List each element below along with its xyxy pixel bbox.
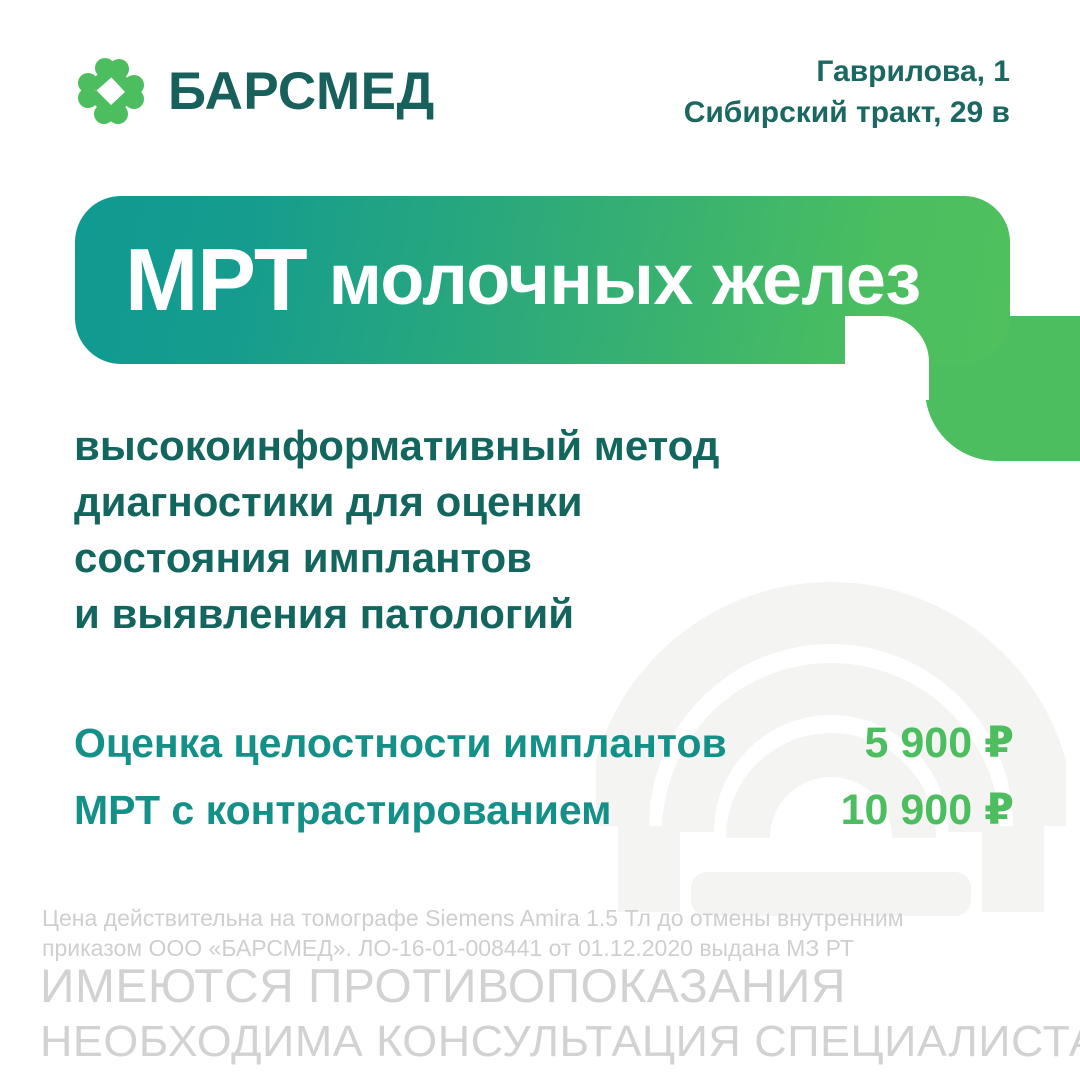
address-line-2: Сибирский тракт, 29 в (684, 93, 1010, 134)
description-line-4: и выявления патологий (74, 586, 894, 642)
fineprint-line-1: Цена действительна на томографе Siemens … (42, 903, 1042, 933)
price-list: Оценка целостности имплантов 5 900 ₽ МРТ… (74, 716, 1014, 850)
hero-title-sub: молочных желез (329, 244, 921, 316)
price-value: 10 900 ₽ (841, 783, 1014, 838)
price-value: 5 900 ₽ (865, 716, 1014, 771)
service-description: высокоинформативный метод диагностики дл… (74, 418, 894, 641)
price-row: МРТ с контрастированием 10 900 ₽ (74, 783, 1014, 838)
legal-fineprint: Цена действительна на томографе Siemens … (42, 903, 1042, 964)
clinic-addresses: Гаврилова, 1 Сибирский тракт, 29 в (684, 52, 1010, 134)
medical-disclaimer: ИМЕЮТСЯ ПРОТИВОПОКАЗАНИЯ НЕОБХОДИМА КОНС… (40, 962, 1044, 1075)
brand-name: БАРСМЕД (168, 65, 435, 118)
disclaimer-line-2: НЕОБХОДИМА КОНСУЛЬТАЦИЯ СПЕЦИАЛИСТА (40, 1020, 1064, 1064)
price-label: МРТ с контрастированием (74, 784, 612, 836)
price-row: Оценка целостности имплантов 5 900 ₽ (74, 716, 1014, 771)
brand-logo: БАРСМЕД (76, 56, 435, 126)
molecule-cluster-icon (76, 56, 146, 126)
address-line-1: Гаврилова, 1 (684, 52, 1010, 93)
hero-title: МРТ молочных желез (125, 196, 921, 364)
page-header: БАРСМЕД Гаврилова, 1 Сибирский тракт, 29… (0, 0, 1080, 170)
description-line-3: состояния имплантов (74, 530, 894, 586)
description-line-1: высокоинформативный метод (74, 418, 894, 474)
hero-title-main: МРТ (125, 236, 307, 324)
description-line-2: диагностики для оценки (74, 474, 894, 530)
disclaimer-line-1: ИМЕЮТСЯ ПРОТИВОПОКАЗАНИЯ (40, 962, 1064, 1009)
price-label: Оценка целостности имплантов (74, 717, 727, 769)
